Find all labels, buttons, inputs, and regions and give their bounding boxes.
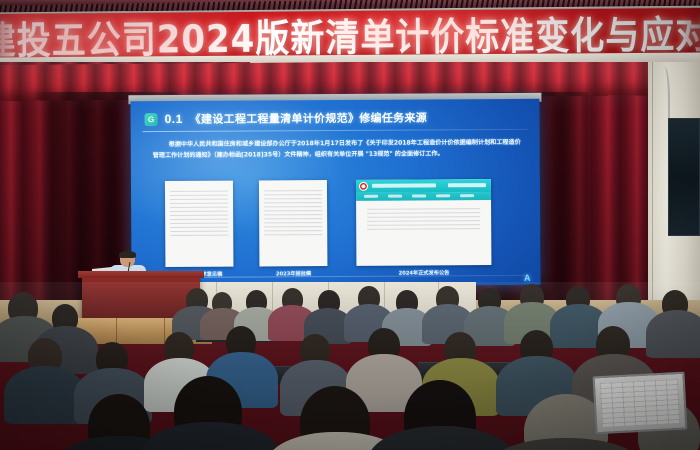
wall-monitor bbox=[668, 118, 700, 236]
website-emblem-icon bbox=[359, 182, 368, 191]
website-nav-item bbox=[436, 194, 450, 197]
website-thumbnail-3 bbox=[356, 179, 492, 266]
website-nav-item bbox=[364, 195, 378, 198]
website-search-bar bbox=[448, 183, 486, 187]
slide-header: G 0.1 《建设工程工程量清单计价规范》修编任务来源 bbox=[144, 109, 427, 127]
document-thumbnail-2 bbox=[259, 180, 328, 266]
projection-screen-assembly: G 0.1 《建设工程工程量清单计价规范》修编任务来源 根据中华人民共和国住房和… bbox=[130, 99, 540, 287]
slide-section-number: 0.1 bbox=[165, 112, 183, 126]
wall-seam bbox=[652, 62, 653, 312]
slide-header-divider bbox=[143, 129, 528, 132]
document-thumbnail-1 bbox=[165, 181, 234, 267]
attendee-laptop bbox=[593, 372, 688, 435]
website-nav-item bbox=[460, 194, 474, 197]
audience-shoulders-front bbox=[140, 422, 280, 450]
slide-body-paragraph: 根据中华人民共和国住房和城乡建设部办公厅于2018年1月17日发布了《关于印发2… bbox=[153, 137, 521, 162]
slide-thumbnail-row: 2021年征求意见稿 2023年报批稿 2024年正式发布公告 bbox=[131, 179, 541, 271]
projection-screen: G 0.1 《建设工程工程量清单计价规范》修编任务来源 根据中华人民共和国住房和… bbox=[130, 99, 540, 287]
website-nav-item bbox=[412, 194, 426, 197]
audience-shoulders-front bbox=[488, 438, 644, 450]
audience-seating bbox=[0, 282, 700, 450]
website-title-bar bbox=[372, 183, 436, 187]
document-text-lines bbox=[170, 191, 227, 239]
document-text-lines bbox=[264, 190, 321, 238]
audience-shoulders-front bbox=[368, 426, 516, 450]
website-nav-item bbox=[388, 195, 402, 198]
speaker-hair bbox=[119, 251, 136, 258]
slide-title: 《建设工程工程量清单计价规范》修编任务来源 bbox=[190, 109, 427, 126]
thumbnail-content bbox=[165, 181, 234, 267]
thumbnail-content bbox=[356, 179, 492, 266]
spreadsheet-screen bbox=[600, 379, 680, 427]
audience-shoulders bbox=[646, 310, 700, 358]
thumbnail-content bbox=[259, 180, 328, 266]
podium-desktop bbox=[78, 271, 204, 278]
slide-badge-icon: G bbox=[145, 113, 158, 126]
photograph-scene: 建投五公司2024版新清单计价标准变化与应对 G 0.1 《建设工程工程量清单计… bbox=[0, 0, 700, 450]
website-body-lines bbox=[367, 208, 481, 233]
